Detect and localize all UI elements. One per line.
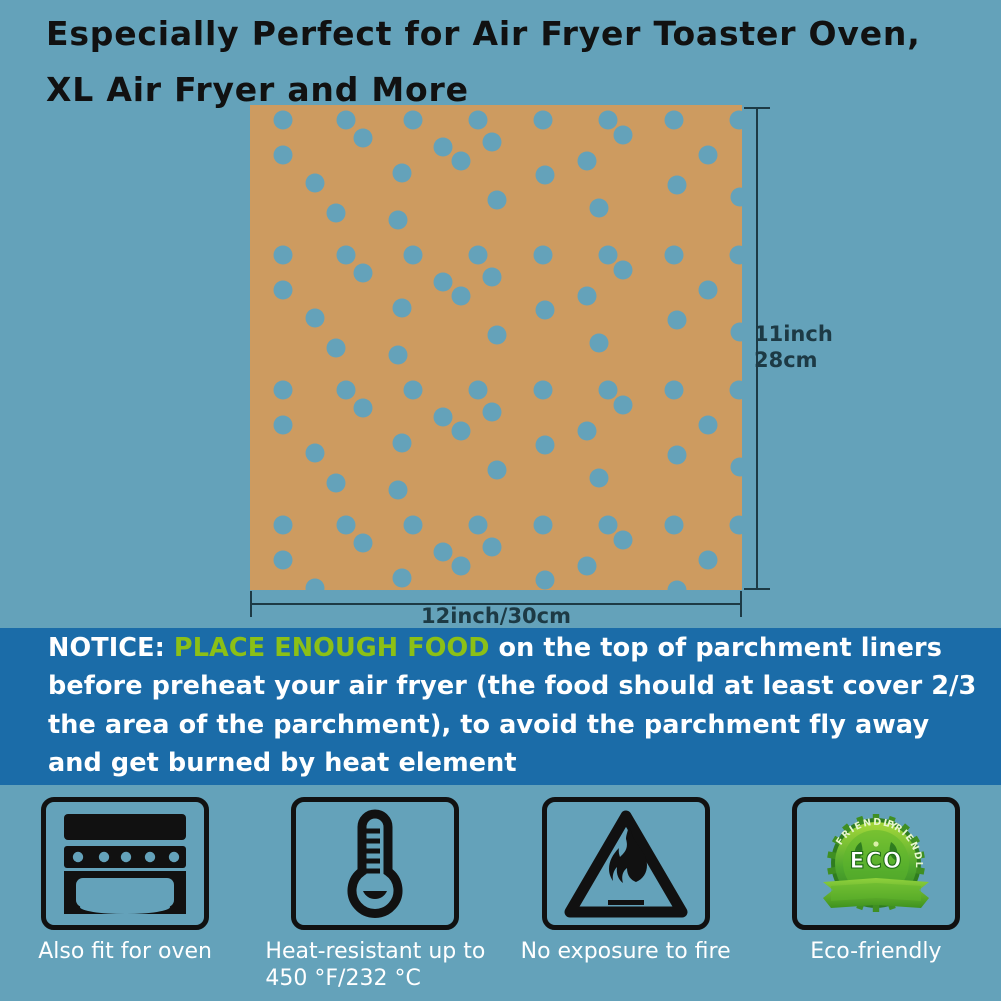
perforation-hole	[354, 264, 373, 283]
perforation-hole	[488, 461, 507, 480]
perforation-hole	[337, 516, 356, 535]
feature-heat-resistant: Heat-resistant up to 450 °F/232 °C	[250, 785, 500, 1001]
perforation-hole	[534, 246, 553, 265]
perforation-hole	[434, 408, 453, 427]
perforation-hole	[536, 436, 555, 455]
perforation-hole	[404, 111, 423, 130]
feature-no-fire: No exposure to fire	[501, 785, 751, 1001]
perforation-hole	[665, 516, 684, 535]
perforation-hole	[483, 268, 502, 287]
perforation-hole	[354, 534, 373, 553]
feature-no-fire-caption: No exposure to fire	[521, 939, 731, 966]
perforation-hole	[274, 381, 293, 400]
perforation-hole	[274, 281, 293, 300]
perforation-hole	[452, 152, 471, 171]
eco-friendly-badge-icon-box: FRIENDLY FRIENDLY ECO	[792, 797, 960, 930]
perforation-hole	[599, 246, 618, 265]
perforation-hole	[389, 481, 408, 500]
perforation-hole	[699, 281, 718, 300]
perforation-hole	[434, 138, 453, 157]
perforation-hole	[730, 516, 743, 535]
perforation-hole	[614, 126, 633, 145]
perforation-hole	[665, 381, 684, 400]
feature-oven: Also fit for oven	[0, 785, 250, 1001]
height-dimension-tick-bottom	[744, 588, 770, 590]
perforation-hole	[327, 339, 346, 358]
perforation-hole	[668, 176, 687, 195]
perforation-hole	[536, 571, 555, 590]
perforation-hole	[389, 346, 408, 365]
perforation-hole	[469, 516, 488, 535]
perforation-hole	[354, 129, 373, 148]
perforation-hole	[404, 246, 423, 265]
perforation-hole	[404, 516, 423, 535]
perforation-hole	[731, 458, 743, 477]
perforation-hole	[393, 434, 412, 453]
perforation-hole	[452, 557, 471, 576]
perforation-hole	[306, 444, 325, 463]
perforation-hole	[274, 246, 293, 265]
feature-eco-friendly-caption: Eco-friendly	[810, 939, 941, 966]
height-dimension-tick-top	[744, 107, 770, 109]
perforation-hole	[306, 174, 325, 193]
perforation-hole	[488, 191, 507, 210]
perforation-hole	[389, 211, 408, 230]
perforation-hole	[274, 111, 293, 130]
height-dimension-label: 11inch 28cm	[754, 322, 833, 373]
perforation-hole	[731, 323, 743, 342]
perforation-hole	[614, 531, 633, 550]
perforation-hole	[665, 246, 684, 265]
perforation-hole	[730, 246, 743, 265]
perforation-hole	[730, 381, 743, 400]
perforation-hole	[393, 164, 412, 183]
perforation-hole	[434, 273, 453, 292]
perforation-hole	[534, 381, 553, 400]
perforation-hole	[274, 416, 293, 435]
perforation-hole	[599, 381, 618, 400]
perforation-hole	[306, 309, 325, 328]
perforation-hole	[488, 326, 507, 345]
perforation-hole	[327, 474, 346, 493]
perforation-hole	[306, 579, 325, 591]
eco-badge-center-text: ECO	[849, 849, 902, 874]
perforation-hole	[614, 261, 633, 280]
perforation-hole	[731, 188, 743, 207]
perforation-hole	[483, 538, 502, 557]
perforation-hole	[393, 299, 412, 318]
feature-heat-resistant-caption: Heat-resistant up to 450 °F/232 °C	[265, 939, 485, 993]
perforation-hole	[469, 246, 488, 265]
thermometer-icon-box	[291, 797, 459, 930]
thermometer-icon	[338, 808, 412, 920]
eco-friendly-badge-icon: FRIENDLY FRIENDLY ECO	[813, 808, 939, 920]
perforation-hole	[730, 111, 743, 130]
feature-row: Also fit for oven Heat-resistant up to 4…	[0, 785, 1001, 1001]
perforation-hole	[534, 111, 553, 130]
notice-prefix: NOTICE:	[48, 633, 174, 663]
notice-accent-text: PLACE ENOUGH FOOD	[174, 633, 490, 663]
perforation-hole	[452, 422, 471, 441]
perforation-hole	[452, 287, 471, 306]
perforation-hole	[699, 146, 718, 165]
perforation-hole	[590, 199, 609, 218]
perforation-hole	[274, 516, 293, 535]
oven-icon-box	[41, 797, 209, 930]
perforation-hole	[354, 399, 373, 418]
notice-text: NOTICE: PLACE ENOUGH FOOD on the top of …	[48, 629, 978, 782]
perforation-hole	[536, 166, 555, 185]
perforation-hole	[536, 301, 555, 320]
perforation-hole	[578, 557, 597, 576]
width-dimension-label: 12inch/30cm	[250, 604, 742, 628]
perforation-hole	[393, 569, 412, 588]
perforation-hole	[534, 516, 553, 535]
parchment-sheet	[250, 105, 742, 590]
perforation-hole	[337, 111, 356, 130]
perforation-hole	[668, 446, 687, 465]
perforation-holes	[250, 105, 742, 590]
oven-icon	[60, 811, 190, 917]
perforation-hole	[434, 543, 453, 562]
perforation-hole	[599, 111, 618, 130]
perforation-hole	[337, 381, 356, 400]
notice-banner: NOTICE: PLACE ENOUGH FOOD on the top of …	[0, 628, 1001, 785]
perforation-hole	[483, 133, 502, 152]
perforation-hole	[668, 581, 687, 591]
perforation-hole	[483, 403, 502, 422]
perforation-hole	[599, 516, 618, 535]
perforation-hole	[578, 152, 597, 171]
page-title: Especially Perfect for Air Fryer Toaster…	[46, 6, 966, 118]
perforation-hole	[614, 396, 633, 415]
perforation-hole	[590, 469, 609, 488]
perforation-hole	[699, 416, 718, 435]
perforation-hole	[578, 287, 597, 306]
perforation-hole	[668, 311, 687, 330]
perforation-hole	[699, 551, 718, 570]
perforation-hole	[590, 334, 609, 353]
perforation-hole	[327, 204, 346, 223]
feature-eco-friendly: FRIENDLY FRIENDLY ECO Eco-friendly	[751, 785, 1001, 1001]
perforation-hole	[274, 146, 293, 165]
perforation-hole	[578, 422, 597, 441]
no-fire-warning-icon	[563, 808, 689, 920]
perforation-hole	[404, 381, 423, 400]
perforation-hole	[665, 111, 684, 130]
perforation-hole	[469, 111, 488, 130]
feature-oven-caption: Also fit for oven	[38, 939, 212, 966]
perforation-hole	[337, 246, 356, 265]
no-fire-warning-icon-box	[542, 797, 710, 930]
perforation-hole	[469, 381, 488, 400]
perforation-hole	[274, 551, 293, 570]
